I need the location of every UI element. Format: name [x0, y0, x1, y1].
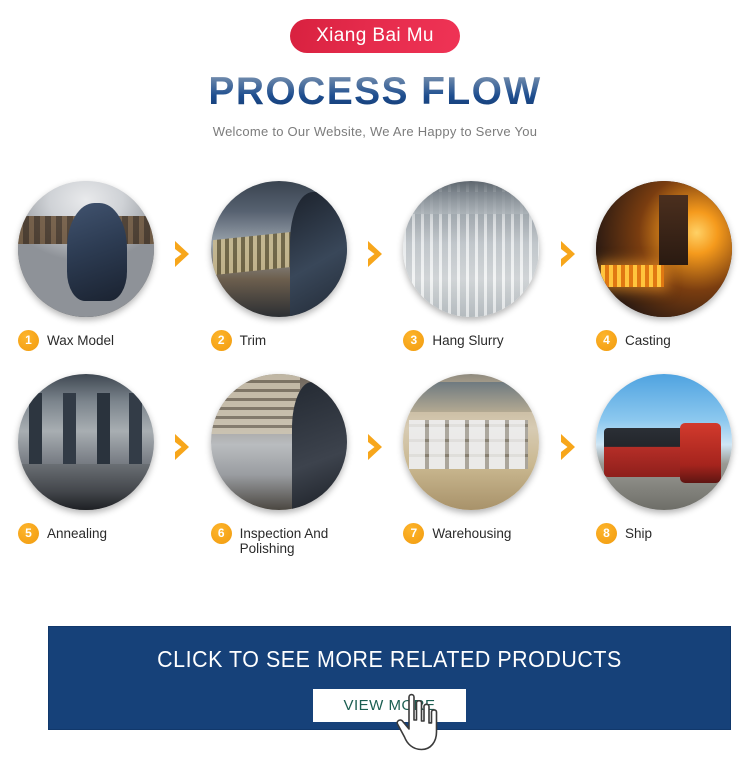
process-step[interactable]: 4 Casting [596, 181, 732, 351]
step-name: Hang Slurry [432, 330, 503, 348]
brand-badge: Xiang Bai Mu [290, 19, 460, 53]
step-label: 5 Annealing [18, 523, 154, 544]
process-step[interactable]: 8 Ship [596, 374, 732, 544]
step-connector [539, 181, 596, 269]
step-name: Annealing [47, 523, 107, 541]
step-name: Warehousing [432, 523, 511, 541]
step-connector [347, 181, 404, 269]
step-connector [154, 374, 211, 462]
page-subtitle: Welcome to Our Website, We Are Happy to … [0, 125, 750, 138]
step-number-badge: 4 [596, 330, 617, 351]
step-name: Casting [625, 330, 671, 348]
hang-slurry-photo [403, 181, 539, 317]
process-step[interactable]: 3 Hang Slurry [403, 181, 539, 351]
step-connector [539, 374, 596, 462]
casting-photo [596, 181, 732, 317]
process-step[interactable]: 7 Warehousing [403, 374, 539, 544]
warehousing-photo [403, 374, 539, 510]
step-number-badge: 2 [211, 330, 232, 351]
step-name: Inspection And Polishing [240, 523, 329, 556]
ship-photo [596, 374, 732, 510]
page-title: PROCESS FLOW [208, 72, 541, 111]
step-label: 8 Ship [596, 523, 732, 544]
inspection-photo [211, 374, 347, 510]
chevron-right-icon [172, 432, 192, 462]
chevron-right-icon [365, 239, 385, 269]
step-label: 2 Trim [211, 330, 347, 351]
step-number-badge: 1 [18, 330, 39, 351]
step-name: Wax Model [47, 330, 114, 348]
page-header: Xiang Bai Mu PROCESS FLOW Welcome to Our… [0, 0, 750, 138]
step-number-badge: 3 [403, 330, 424, 351]
process-step[interactable]: 5 Annealing [18, 374, 154, 544]
step-name: Trim [240, 330, 267, 348]
view-more-button[interactable]: VIEW MORE [313, 689, 465, 722]
step-row-1: 1 Wax Model 2 Trim 3 Hang Sl [0, 181, 750, 351]
chevron-right-icon [558, 239, 578, 269]
step-number-badge: 8 [596, 523, 617, 544]
chevron-right-icon [558, 432, 578, 462]
step-number-badge: 7 [403, 523, 424, 544]
step-label: 7 Warehousing [403, 523, 539, 544]
step-number-badge: 5 [18, 523, 39, 544]
process-step[interactable]: 6 Inspection And Polishing [211, 374, 347, 556]
step-number-badge: 6 [211, 523, 232, 544]
chevron-right-icon [365, 432, 385, 462]
wax-model-photo [18, 181, 154, 317]
step-row-2: 5 Annealing 6 Inspection And Polishing [0, 374, 750, 556]
process-step[interactable]: 2 Trim [211, 181, 347, 351]
cta-banner[interactable]: CLICK TO SEE MORE RELATED PRODUCTS VIEW … [48, 626, 731, 730]
step-connector [347, 374, 404, 462]
process-steps: 1 Wax Model 2 Trim 3 Hang Sl [0, 181, 750, 556]
step-connector [154, 181, 211, 269]
annealing-photo [18, 374, 154, 510]
chevron-right-icon [172, 239, 192, 269]
step-label: 1 Wax Model [18, 330, 154, 351]
trim-photo [211, 181, 347, 317]
step-label: 6 Inspection And Polishing [211, 523, 347, 556]
cta-button-wrap: VIEW MORE [313, 689, 465, 722]
process-step[interactable]: 1 Wax Model [18, 181, 154, 351]
cta-heading: CLICK TO SEE MORE RELATED PRODUCTS [73, 648, 706, 671]
step-label: 3 Hang Slurry [403, 330, 539, 351]
step-label: 4 Casting [596, 330, 732, 351]
step-name: Ship [625, 523, 652, 541]
